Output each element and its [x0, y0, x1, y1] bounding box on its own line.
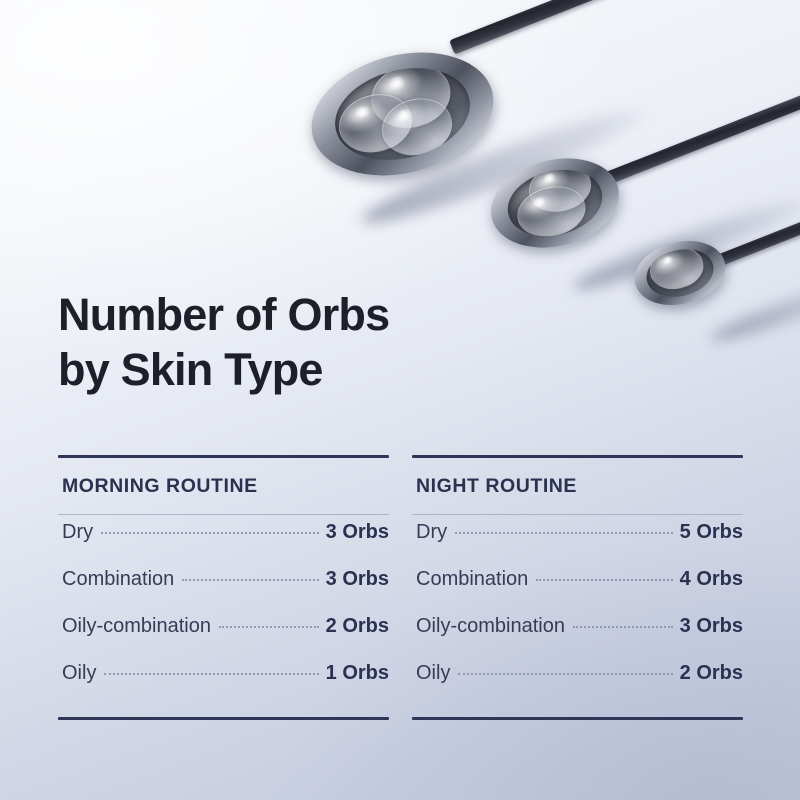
row-label: Dry — [62, 521, 93, 544]
row-label: Oily-combination — [62, 615, 211, 638]
dotted-leader — [458, 673, 672, 675]
row-value: 3 Orbs — [680, 615, 743, 638]
night-routine-rows: Dry 5 Orbs Combination 4 Orbs Oily-combi… — [412, 515, 743, 717]
orbs-table: MORNING ROUTINE Dry 3 Orbs Combination 3… — [0, 0, 800, 800]
dotted-leader — [182, 579, 318, 581]
column-rule-bottom — [58, 717, 389, 720]
row-value: 3 Orbs — [326, 521, 389, 544]
dotted-leader — [219, 626, 319, 628]
morning-routine-heading: MORNING ROUTINE — [58, 458, 389, 514]
table-row: Oily-combination 2 Orbs — [58, 615, 389, 662]
morning-routine-column: MORNING ROUTINE Dry 3 Orbs Combination 3… — [58, 455, 389, 720]
row-value: 2 Orbs — [326, 615, 389, 638]
row-value: 1 Orbs — [326, 662, 389, 685]
column-rule-middle — [412, 514, 743, 515]
row-label: Oily — [416, 662, 450, 685]
row-value: 2 Orbs — [680, 662, 743, 685]
table-row: Dry 3 Orbs — [58, 521, 389, 568]
row-label: Dry — [416, 521, 447, 544]
dotted-leader — [573, 626, 673, 628]
row-label: Combination — [62, 568, 174, 591]
table-row: Combination 4 Orbs — [412, 568, 743, 615]
night-routine-heading: NIGHT ROUTINE — [412, 458, 743, 514]
dotted-leader — [101, 532, 319, 534]
night-routine-column: NIGHT ROUTINE Dry 5 Orbs Combination 4 O… — [412, 455, 743, 720]
row-value: 5 Orbs — [680, 521, 743, 544]
table-row: Combination 3 Orbs — [58, 568, 389, 615]
row-value: 4 Orbs — [680, 568, 743, 591]
table-row: Oily-combination 3 Orbs — [412, 615, 743, 662]
dotted-leader — [536, 579, 672, 581]
row-label: Oily-combination — [416, 615, 565, 638]
table-row: Oily 2 Orbs — [412, 662, 743, 709]
dotted-leader — [104, 673, 318, 675]
dotted-leader — [455, 532, 673, 534]
column-rule-bottom — [412, 717, 743, 720]
table-row: Dry 5 Orbs — [412, 521, 743, 568]
row-label: Oily — [62, 662, 96, 685]
table-row: Oily 1 Orbs — [58, 662, 389, 709]
row-value: 3 Orbs — [326, 568, 389, 591]
column-rule-middle — [58, 514, 389, 515]
morning-routine-rows: Dry 3 Orbs Combination 3 Orbs Oily-combi… — [58, 515, 389, 717]
row-label: Combination — [416, 568, 528, 591]
